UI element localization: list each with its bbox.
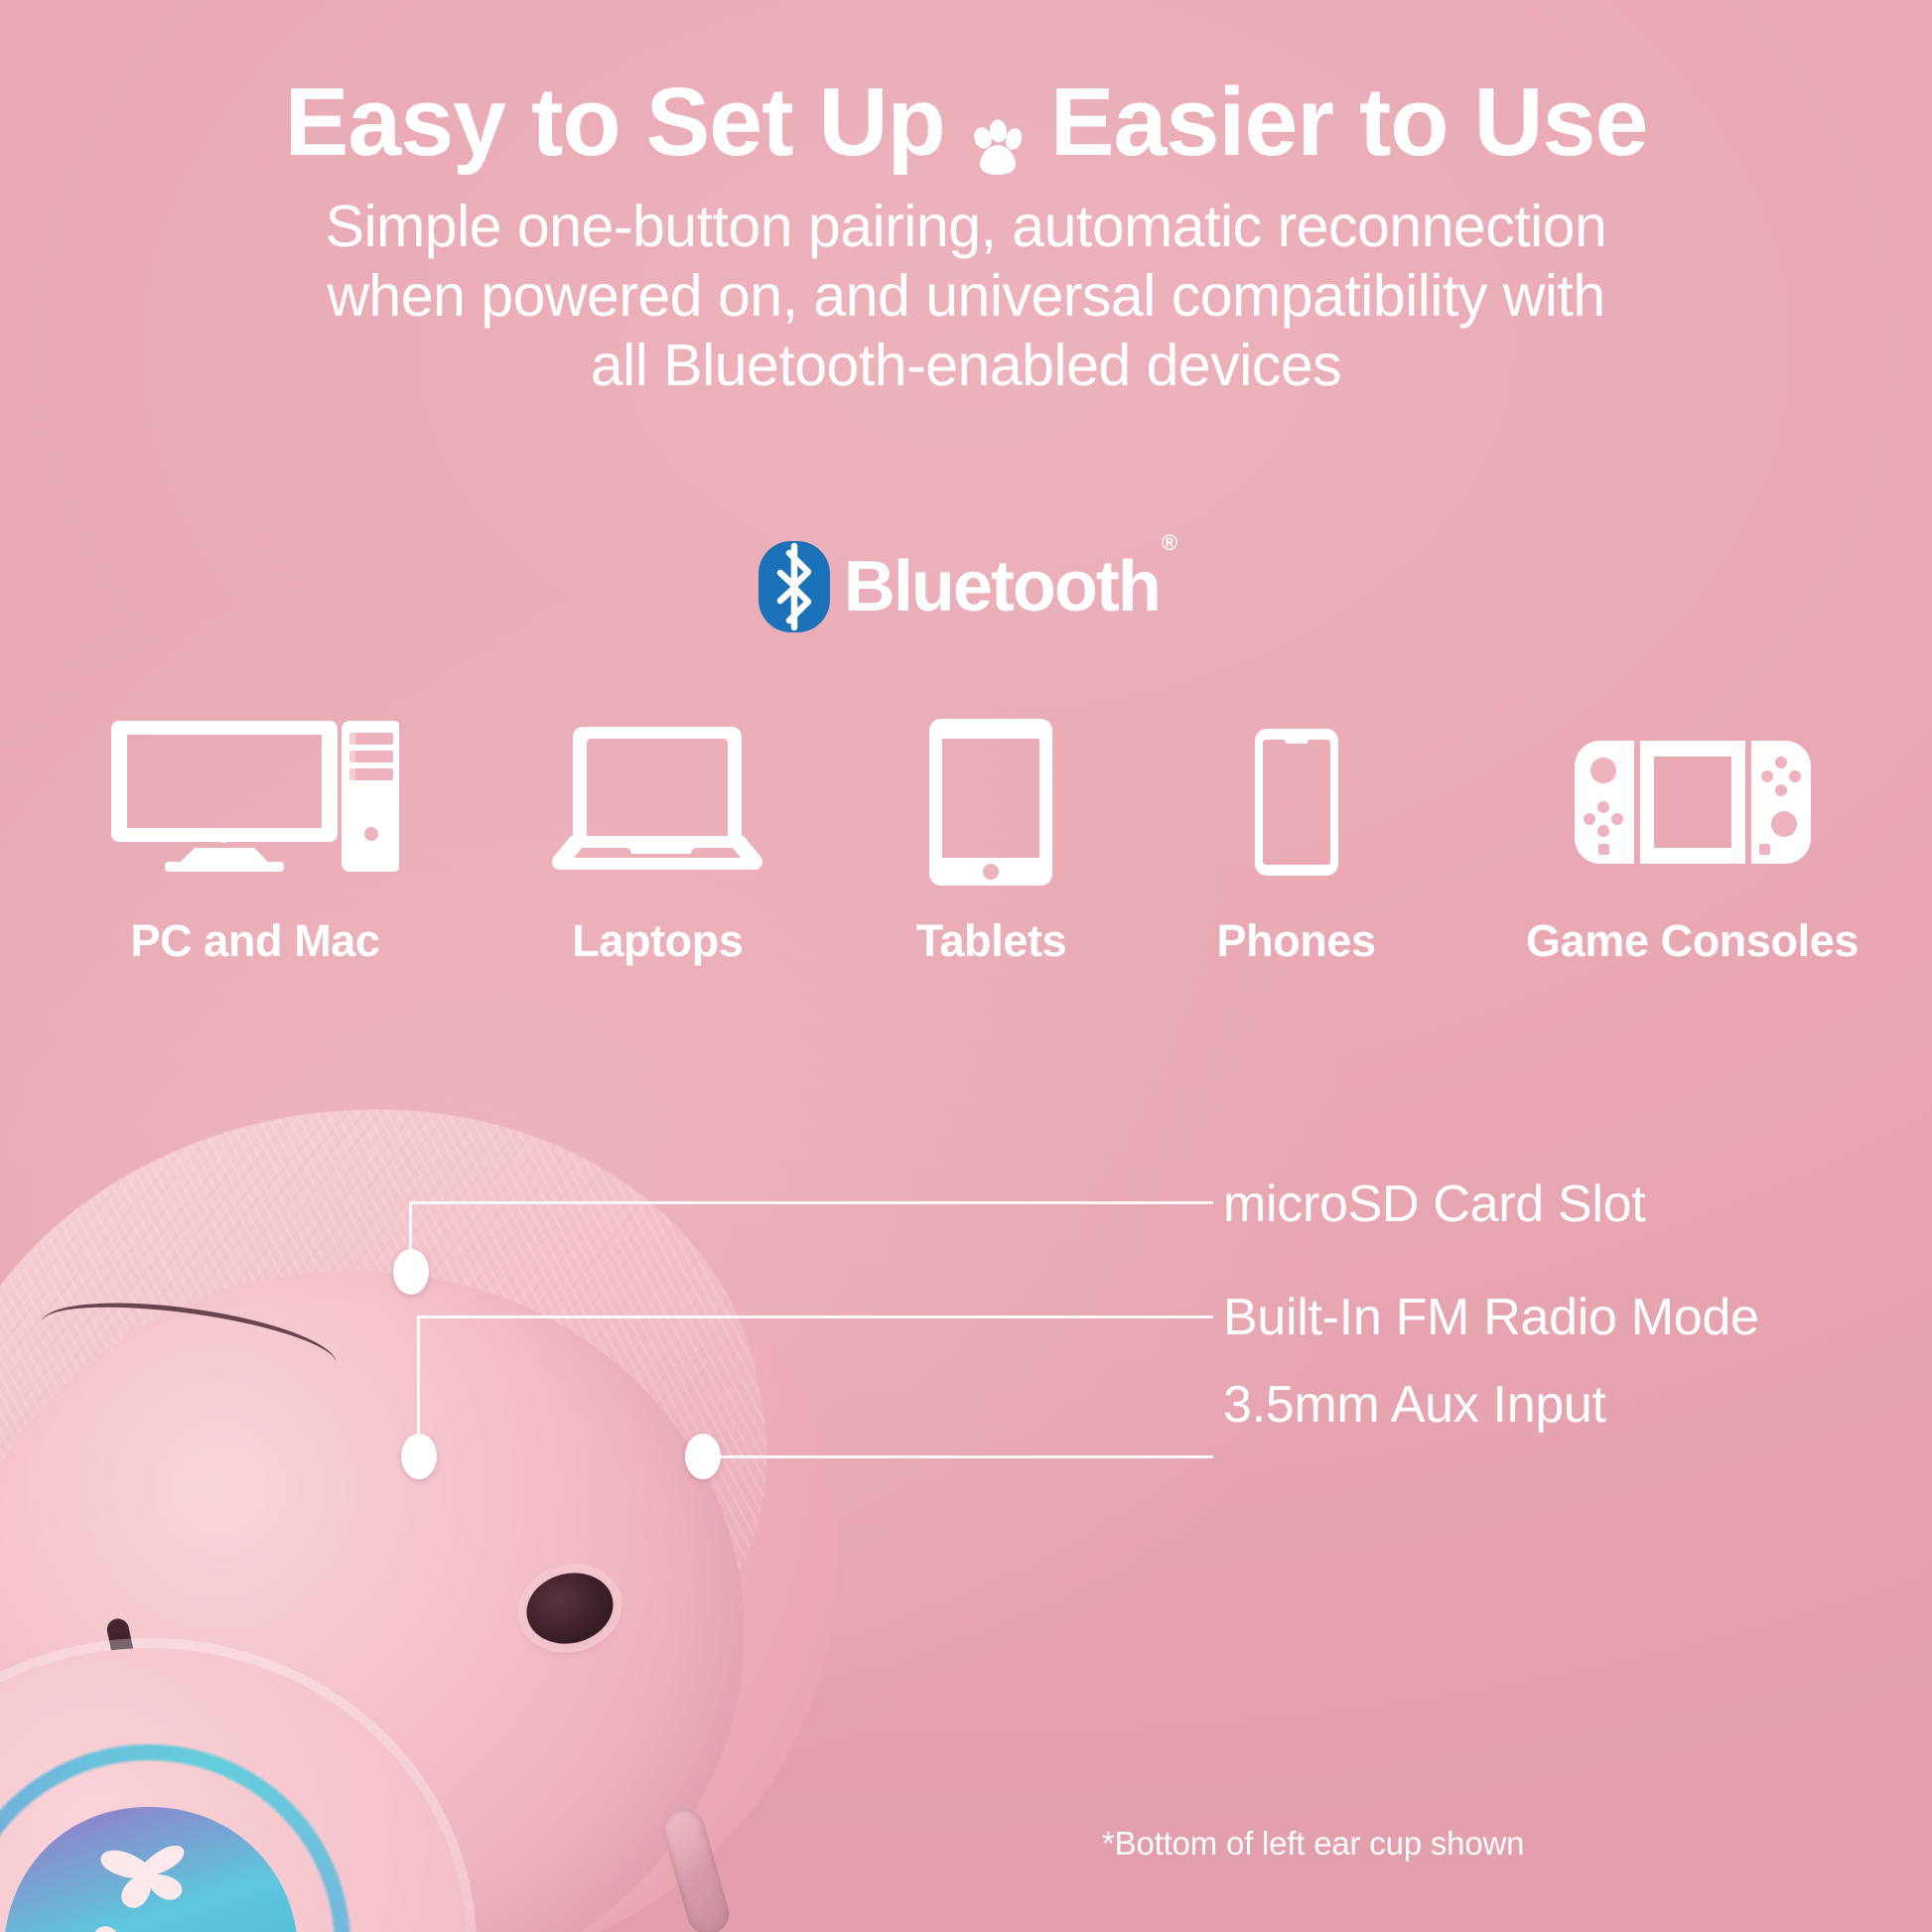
header-block: Easy to Set Up Easier to Use Simple one-… (0, 0, 1932, 400)
device-label-laptops: Laptops (572, 915, 743, 967)
device-label-pc-and-mac: PC and Mac (130, 915, 379, 967)
footnote-text: *Bottom of left ear cup shown (1102, 1825, 1524, 1863)
compatible-devices-row: PC and Mac Laptops Tablets Phones (111, 713, 1859, 967)
subheadline-line-1: Simple one-button pairing, automatic rec… (0, 192, 1932, 261)
device-item-tablets: Tablets (916, 719, 1066, 967)
device-item-phones: Phones (1217, 729, 1376, 967)
device-label-tablets: Tablets (916, 915, 1066, 967)
octopus-mascot-logo (0, 1648, 467, 1932)
page-title: Easy to Set Up Easier to Use (0, 71, 1932, 174)
laptop-icon (549, 721, 765, 872)
product-image-headphone-ear-cup (0, 1122, 1062, 1932)
headline-left-text: Easy to Set Up (285, 71, 945, 174)
subheadline-line-2: when powered on, and universal compatibi… (0, 261, 1932, 331)
paw-print-icon (969, 97, 1027, 159)
tablet-icon (929, 719, 1052, 886)
subheadline: Simple one-button pairing, automatic rec… (0, 192, 1932, 401)
ear-cup-logo-ring (0, 1648, 467, 1932)
device-item-pc-and-mac: PC and Mac (111, 713, 399, 967)
device-label-game-consoles: Game Consoles (1526, 915, 1859, 967)
registered-trademark-icon: ® (1162, 530, 1175, 555)
smartphone-icon (1255, 729, 1338, 876)
device-label-phones: Phones (1217, 915, 1376, 967)
subheadline-line-3: all Bluetooth-enabled devices (0, 331, 1932, 400)
bluetooth-rune-icon (759, 541, 830, 632)
desktop-computer-icon (111, 713, 399, 872)
headline-right-text: Easier to Use (1050, 71, 1648, 174)
bluetooth-wordmark-text: Bluetooth (844, 547, 1160, 626)
device-item-laptops: Laptops (549, 721, 765, 967)
device-item-game-consoles: Game Consoles (1526, 741, 1859, 967)
bluetooth-wordmark: Bluetooth® (844, 546, 1173, 627)
bluetooth-logo: Bluetooth® (0, 541, 1932, 632)
handheld-game-console-icon (1575, 741, 1811, 864)
